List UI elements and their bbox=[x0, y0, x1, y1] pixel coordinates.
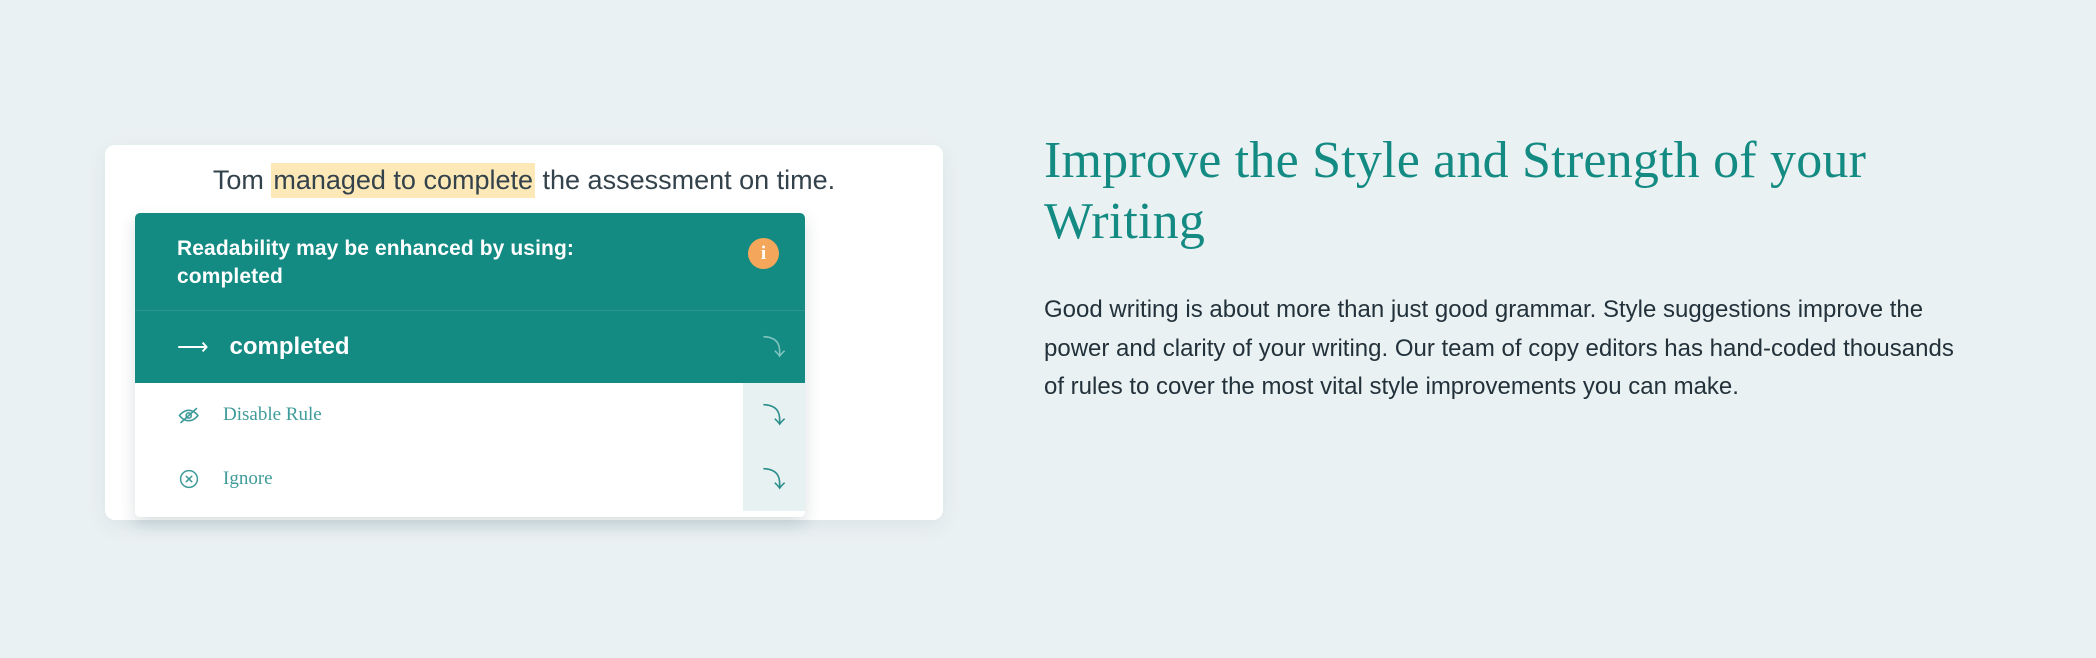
sentence-highlighted-phrase: managed to complete bbox=[271, 163, 535, 198]
enter-key-icon-ignore[interactable]: ⤵ bbox=[743, 447, 805, 511]
sentence-after: the assessment on time. bbox=[535, 165, 835, 195]
menu-item-disable-rule-label: Disable Rule bbox=[223, 404, 322, 426]
menu-item-disable-rule[interactable]: Disable Rule ⤵ bbox=[135, 383, 805, 447]
info-icon[interactable]: i bbox=[748, 238, 779, 269]
eye-slash-icon bbox=[177, 403, 211, 427]
popup-header-title: Readability may be enhanced by using: co… bbox=[177, 235, 647, 290]
circle-x-icon bbox=[177, 467, 211, 491]
popup-menu-rows: Disable Rule ⤵ Ignore ⤵ bbox=[135, 383, 805, 517]
enter-key-icon-disable-rule[interactable]: ⤵ bbox=[743, 383, 805, 447]
suggestion-popup: Readability may be enhanced by using: co… bbox=[135, 213, 805, 517]
sentence-before: Tom bbox=[213, 165, 272, 195]
enter-key-icon-suggestion[interactable]: ⤵ bbox=[743, 311, 805, 383]
page-root: Tom managed to complete the assessment o… bbox=[0, 0, 2096, 658]
suggestion-row-completed[interactable]: ⟶ completed ⤵ bbox=[135, 310, 805, 383]
menu-item-ignore[interactable]: Ignore ⤵ bbox=[135, 447, 805, 511]
suggestion-replacement-text: completed bbox=[230, 333, 350, 361]
long-arrow-icon: ⟶ bbox=[177, 336, 208, 358]
section-title: Improve the Style and Strength of your W… bbox=[1044, 130, 1974, 253]
menu-item-ignore-label: Ignore bbox=[223, 468, 273, 490]
sample-sentence: Tom managed to complete the assessment o… bbox=[105, 165, 943, 196]
info-icon-label: i bbox=[761, 244, 766, 263]
copy-block: Improve the Style and Strength of your W… bbox=[1044, 130, 1974, 407]
product-screenshot-card: Tom managed to complete the assessment o… bbox=[105, 145, 943, 520]
popup-header: Readability may be enhanced by using: co… bbox=[135, 213, 805, 310]
section-body-text: Good writing is about more than just goo… bbox=[1044, 291, 1969, 408]
